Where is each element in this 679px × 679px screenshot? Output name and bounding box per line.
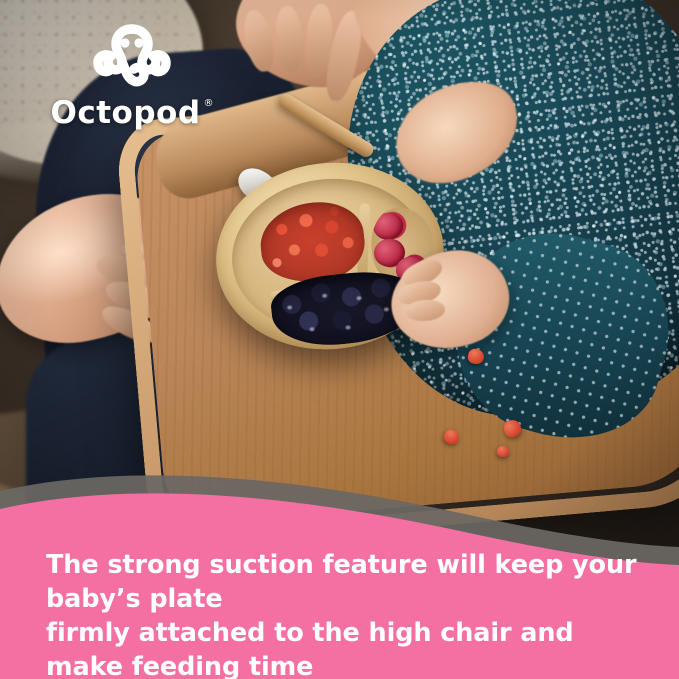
blueberry-highlight (287, 305, 292, 310)
blueberry-highlight (322, 294, 327, 299)
blueberry-highlight (345, 325, 350, 330)
brand-wordmark: Octopod (50, 98, 200, 129)
blueberry-highlight (384, 307, 389, 312)
raspberry (372, 211, 405, 241)
product-feature-card: Octopod ® The strong suction feature wil… (0, 0, 679, 679)
feature-description: The strong suction feature will keep you… (46, 548, 646, 679)
octopus-knot-logo-icon (84, 22, 180, 94)
blueberry-highlight (356, 296, 361, 301)
feature-description-line: firmly attached to the high chair and ma… (46, 616, 646, 679)
feature-description-line: The strong suction feature will keep you… (46, 548, 646, 616)
blueberry-highlight (309, 327, 314, 332)
brand-logo: Octopod ® (32, 22, 232, 129)
registered-trademark-symbol: ® (204, 99, 214, 109)
